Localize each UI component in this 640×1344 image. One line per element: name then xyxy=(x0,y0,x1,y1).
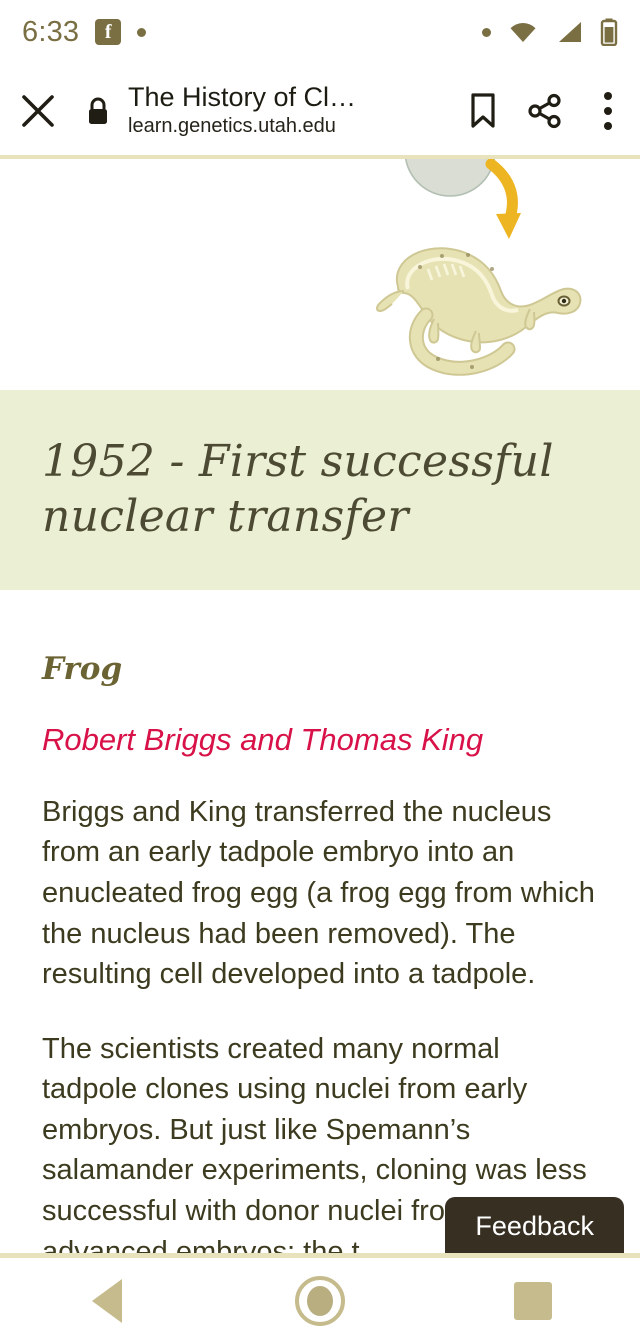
back-triangle-icon xyxy=(92,1279,122,1323)
page-url: learn.genetics.utah.edu xyxy=(128,114,452,139)
browser-toolbar: The History of Cl… learn.genetics.utah.e… xyxy=(0,64,640,157)
facebook-icon: f xyxy=(95,19,121,45)
diagram-svg xyxy=(360,159,640,390)
lock-icon xyxy=(76,96,120,126)
share-icon xyxy=(527,93,563,129)
recents-square-icon xyxy=(514,1282,552,1320)
cell-signal-icon xyxy=(555,20,583,44)
wifi-icon xyxy=(508,20,538,44)
year-heading: 1952 - First successful nuclear transfer xyxy=(42,434,598,544)
battery-icon xyxy=(600,18,618,46)
webview-content[interactable]: 1952 - First successful nuclear transfer… xyxy=(0,159,640,1258)
share-button[interactable] xyxy=(514,93,576,129)
article-body: Frog Robert Briggs and Thomas King Brigg… xyxy=(0,590,640,1258)
curved-yellow-arrow xyxy=(491,164,521,239)
bookmark-button[interactable] xyxy=(452,92,514,130)
status-bar-clock: 6:33 xyxy=(22,16,79,49)
overflow-menu-dot-2 xyxy=(604,107,612,115)
phone-screen: 6:33 f xyxy=(0,0,640,1344)
recents-button[interactable] xyxy=(473,1258,593,1344)
overflow-menu-button[interactable] xyxy=(576,92,640,130)
omnibox[interactable]: The History of Cl… learn.genetics.utah.e… xyxy=(120,82,452,139)
year-heading-band: 1952 - First successful nuclear transfer xyxy=(0,390,640,590)
notification-dot-icon xyxy=(137,28,146,37)
page-title: The History of Cl… xyxy=(128,82,452,112)
egg-cell-circle xyxy=(405,159,495,196)
status-bar: 6:33 f xyxy=(0,0,640,64)
status-bar-right xyxy=(482,18,618,46)
overflow-menu-dot-3 xyxy=(604,122,612,130)
feedback-button[interactable]: Feedback xyxy=(445,1197,624,1258)
facebook-glyph: f xyxy=(105,22,112,42)
salamander-nuclear-transfer-diagram xyxy=(0,159,640,390)
salamander xyxy=(377,248,580,369)
home-button[interactable] xyxy=(260,1258,380,1344)
status-bar-left: 6:33 f xyxy=(22,16,146,49)
bookmark-icon xyxy=(468,92,498,130)
overflow-menu-icon xyxy=(604,92,612,100)
back-button[interactable] xyxy=(47,1258,167,1344)
home-circle-icon xyxy=(295,1276,345,1326)
paragraph-1: Briggs and King transferred the nucleus … xyxy=(42,792,598,995)
close-button[interactable] xyxy=(0,92,76,130)
authors-line: Robert Briggs and Thomas King xyxy=(42,722,598,758)
dot-icon xyxy=(482,28,491,37)
section-subheading: Frog xyxy=(42,652,598,686)
android-navigation-bar xyxy=(0,1258,640,1344)
